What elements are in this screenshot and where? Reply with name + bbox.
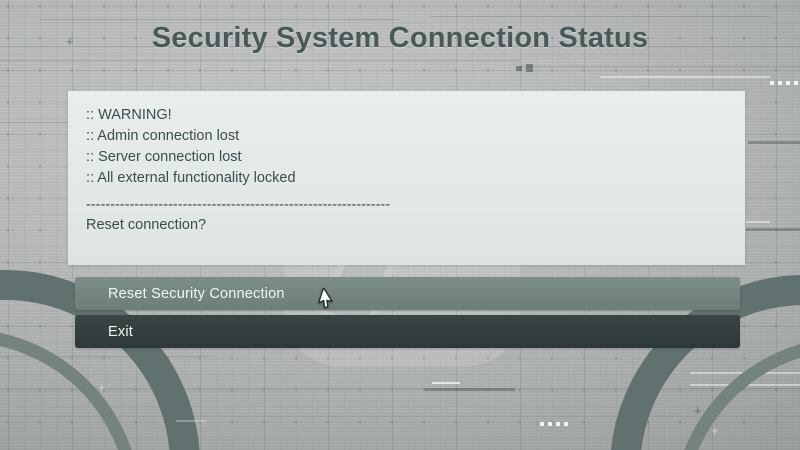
reset-prompt: Reset connection? — [86, 214, 727, 236]
decor-hrule — [746, 221, 770, 223]
status-message-panel: :: WARNING! :: Admin connection lost :: … — [68, 91, 745, 265]
reset-security-connection-button[interactable]: Reset Security Connection — [75, 277, 740, 310]
decor-glitch-mark — [516, 66, 522, 71]
page-title: Security System Connection Status — [0, 22, 800, 55]
warning-line: :: Admin connection lost — [86, 126, 727, 147]
warning-line: :: WARNING! — [86, 105, 727, 126]
panel-divider: ----------------------------------------… — [86, 198, 727, 212]
exit-button[interactable]: Exit — [75, 315, 740, 348]
decor-hrule — [746, 228, 800, 231]
decor-glitch-dots — [540, 422, 568, 426]
decor-glitch-mark — [176, 420, 206, 422]
decor-plus-marker: + — [694, 404, 702, 417]
warning-line: :: All external functionality locked — [86, 168, 727, 189]
game-menu-screen: + + + + Security System Connection Statu… — [0, 0, 800, 450]
decor-glitch-dots — [770, 81, 798, 85]
warning-line: :: Server connection lost — [86, 147, 727, 168]
decor-plus-marker: + — [98, 381, 106, 394]
decor-glitch-mark — [526, 64, 533, 72]
decor-plus-marker: + — [711, 424, 719, 437]
decor-glitch-mark — [432, 382, 460, 384]
decor-hrule — [425, 388, 515, 391]
